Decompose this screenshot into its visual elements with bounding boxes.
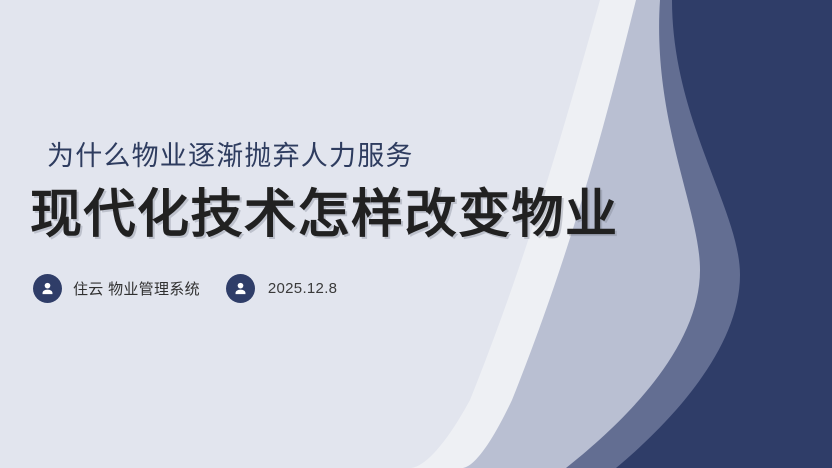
slide-title: 现代化技术怎样改变物业 bbox=[30, 186, 619, 246]
user-avatar-icon bbox=[226, 274, 255, 303]
meta-item-system: 住云 物业管理系统 bbox=[33, 274, 200, 303]
meta-item-date: 2025.12.8 bbox=[226, 274, 337, 303]
meta-label-system: 住云 物业管理系统 bbox=[73, 278, 200, 299]
wave-band-navy bbox=[616, 0, 832, 468]
slide-meta-row: 住云 物业管理系统 2025.12.8 bbox=[33, 274, 337, 303]
meta-label-date: 2025.12.8 bbox=[268, 280, 337, 297]
user-avatar-icon bbox=[33, 274, 62, 303]
slide-subtitle: 为什么物业逐渐抛弃人力服务 bbox=[47, 140, 414, 172]
slide-content: 为什么物业逐渐抛弃人力服务 现代化技术怎样改变物业 住云 物业管理系统 bbox=[0, 0, 560, 468]
title-slide: 为什么物业逐渐抛弃人力服务 现代化技术怎样改变物业 住云 物业管理系统 bbox=[0, 0, 832, 468]
